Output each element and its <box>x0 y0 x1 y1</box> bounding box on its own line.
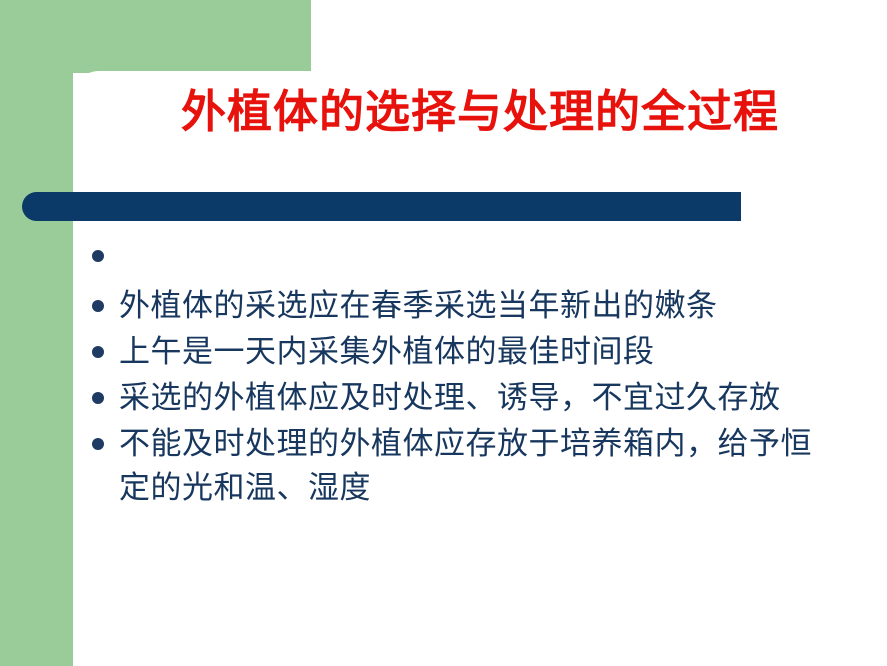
list-item: 外植体的采选应在春季采选当年新出的嫩条 <box>92 284 852 328</box>
list-item-text: 采选的外植体应及时处理、诱导，不宜过久存放 <box>119 376 819 420</box>
list-item-text: 上午是一天内采集外植体的最佳时间段 <box>119 330 819 374</box>
list-item <box>92 238 852 278</box>
list-item: 上午是一天内采集外植体的最佳时间段 <box>92 330 852 374</box>
bullet-dot-icon <box>92 250 104 262</box>
title-divider-bar <box>22 192 741 221</box>
bullet-dot-icon <box>92 346 104 358</box>
list-item-text: 外植体的采选应在春季采选当年新出的嫩条 <box>119 284 819 328</box>
slide: 外植体的选择与处理的全过程 外植体的采选应在春季采选当年新出的嫩条 上午是一天内… <box>0 0 887 666</box>
bullet-dot-icon <box>92 438 104 450</box>
bullet-dot-icon <box>92 300 104 312</box>
list-item: 不能及时处理的外植体应存放于培养箱内，给予恒定的光和温、湿度 <box>92 422 852 510</box>
bullet-dot-icon <box>92 392 104 404</box>
list-item-text: 不能及时处理的外植体应存放于培养箱内，给予恒定的光和温、湿度 <box>119 422 819 510</box>
page-title: 外植体的选择与处理的全过程 <box>130 82 830 144</box>
green-decorative-strip <box>0 0 73 666</box>
bullet-list: 外植体的采选应在春季采选当年新出的嫩条 上午是一天内采集外植体的最佳时间段 采选… <box>92 238 852 512</box>
list-item: 采选的外植体应及时处理、诱导，不宜过久存放 <box>92 376 852 420</box>
